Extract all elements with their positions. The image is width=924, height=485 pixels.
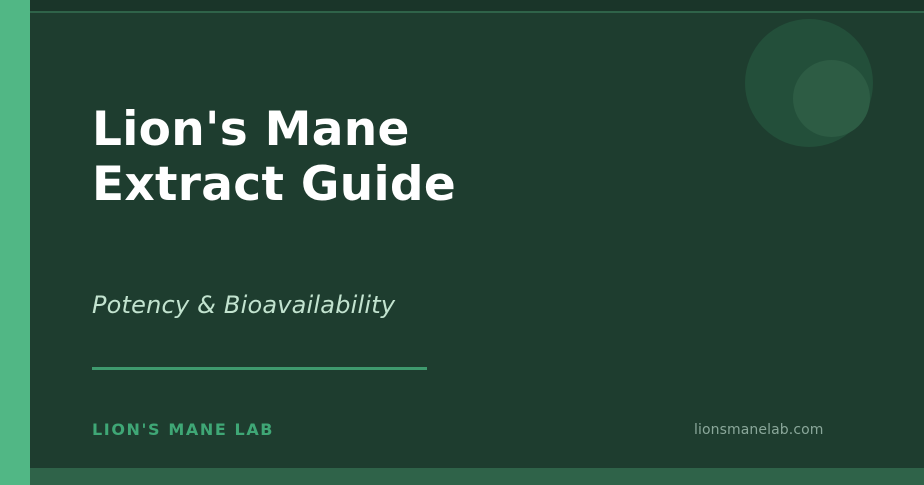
page-title: Lion's Mane Extract Guide [92, 103, 712, 212]
brand-label: LION'S MANE LAB [92, 420, 274, 439]
website-url: lionsmanelab.com [694, 422, 824, 438]
title-slide: Lion's Mane Extract Guide Potency & Bioa… [0, 0, 924, 485]
slide-content: Lion's Mane Extract Guide Potency & Bioa… [0, 0, 924, 485]
left-accent-bar [0, 0, 30, 485]
subtitle: Potency & Bioavailability [92, 291, 395, 319]
divider-rule [92, 367, 427, 370]
